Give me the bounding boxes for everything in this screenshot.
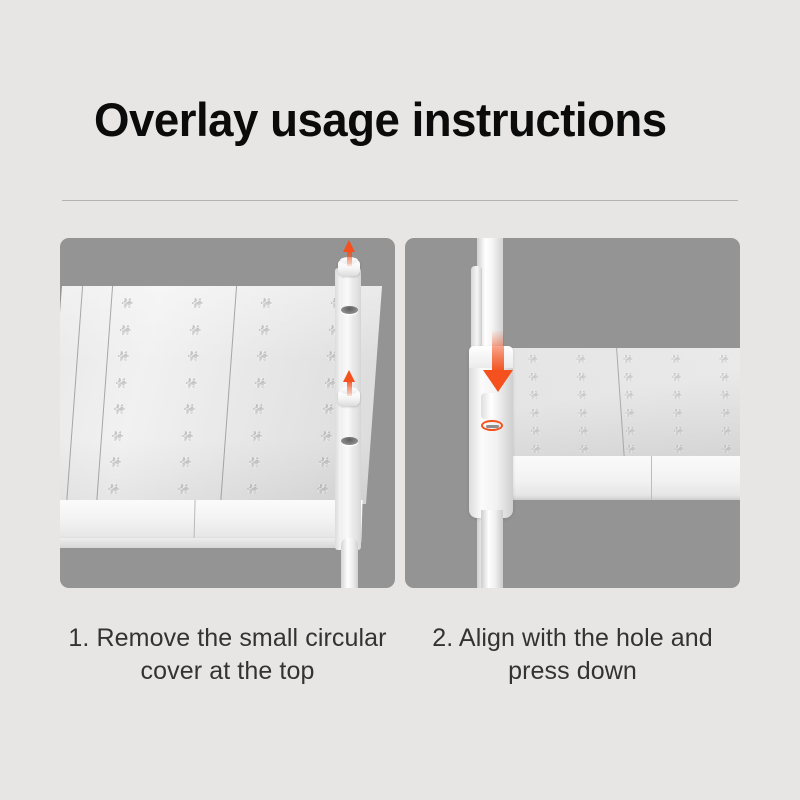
rail-hole [341,437,358,445]
shelf-under-edge [60,538,342,548]
instruction-page: Overlay usage instructions [0,0,800,800]
rail-hole [341,306,358,314]
page-title: Overlay usage instructions [94,92,715,148]
step-1-caption: 1. Remove the small circular cover at th… [60,622,395,688]
title-divider [62,200,738,201]
shelf-lip-seam [651,456,652,500]
shelf-top-surface [60,286,382,504]
arrow-down-icon [483,330,513,392]
shelf-leg-post [341,538,358,588]
step-1-image-panel [60,238,395,588]
bracket-collar [481,393,503,419]
vertical-pole-lower [481,510,503,588]
alignment-hole-highlight [481,420,503,431]
shelf-front-lip [507,456,740,500]
step-2-image-panel [405,238,740,588]
arrow-up-icon [343,240,356,266]
shelf-front-lip [60,500,363,542]
arrow-up-icon [343,370,356,396]
step-2-caption: 2. Align with the hole and press down [405,622,740,688]
